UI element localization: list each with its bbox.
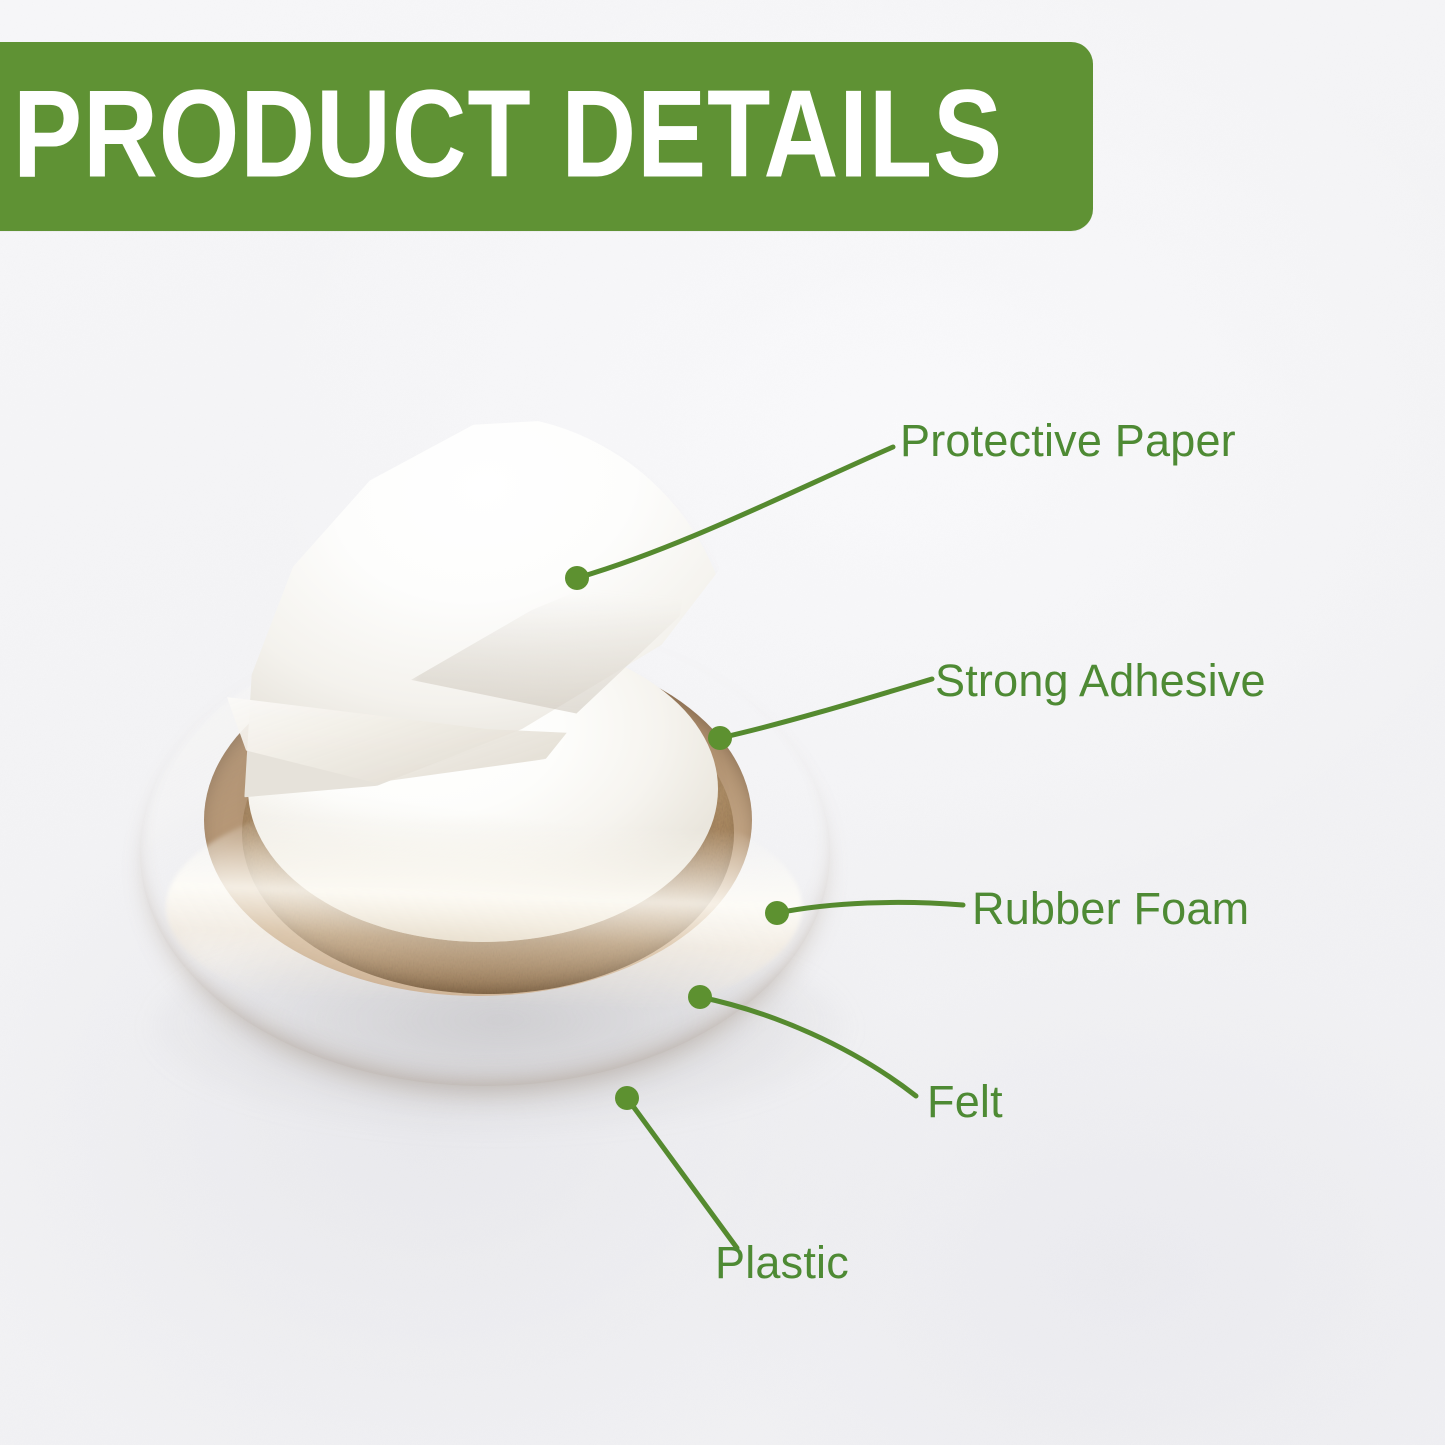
product-details-infographic: PRODUCT DETAILS bbox=[0, 0, 1445, 1445]
callout-label-rubber-foam: Rubber Foam bbox=[972, 886, 1249, 931]
callout-label-strong-adhesive: Strong Adhesive bbox=[935, 658, 1266, 703]
callout-label-felt: Felt bbox=[927, 1079, 1003, 1124]
callout-label-protective-paper: Protective Paper bbox=[900, 418, 1236, 463]
callout-label-plastic: Plastic bbox=[715, 1240, 849, 1285]
callout-labels: Protective Paper Strong Adhesive Rubber … bbox=[0, 0, 1445, 1445]
